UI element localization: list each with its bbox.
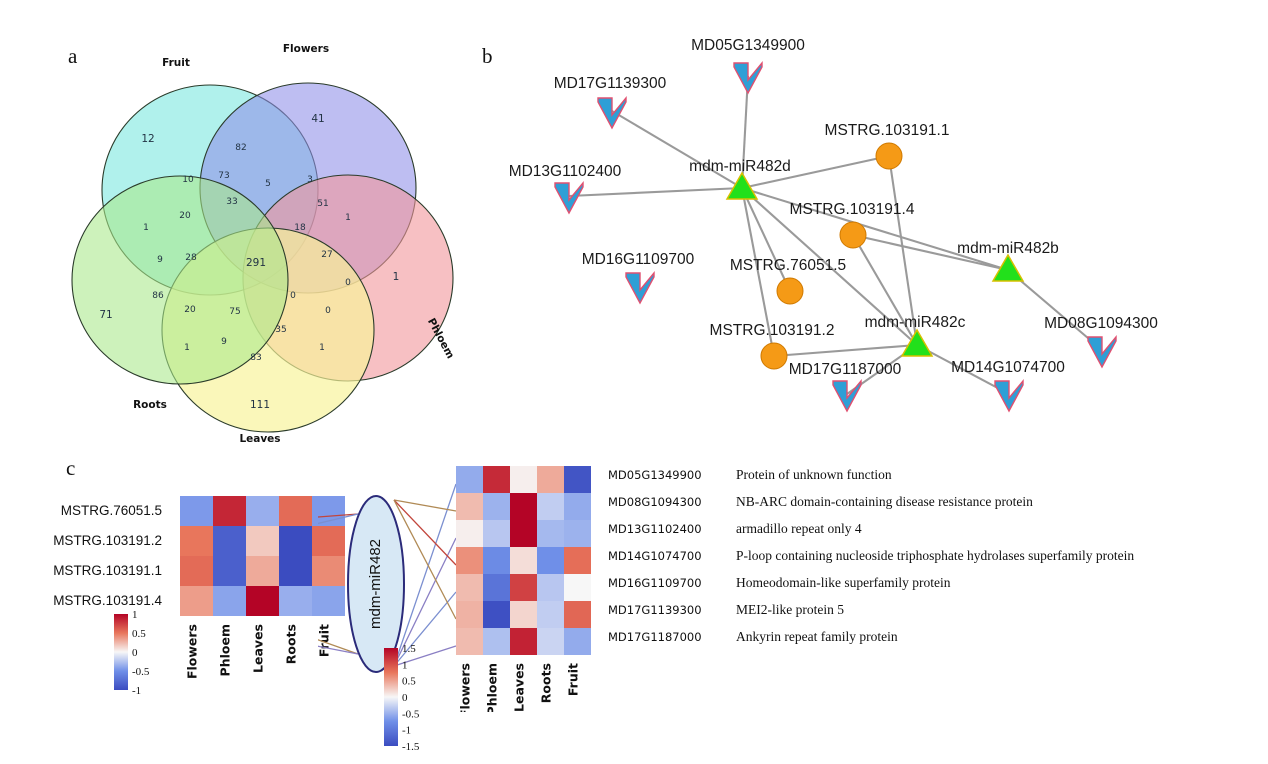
heatmap-right-cell [564,628,591,655]
network-node-MD14G1074700[interactable] [995,381,1023,411]
network-node-MD17G1139300[interactable] [598,98,626,128]
venn-count-86: 86 [152,291,164,301]
venn-label-roots: Roots [133,399,167,411]
heatmap-right-cell [564,466,591,493]
network-node-MD16G1109700[interactable] [626,273,654,303]
venn-count-fruit-only: 12 [141,133,154,145]
network-labels: MD05G1349900MD17G1139300MD13G1102400MD16… [509,37,1159,378]
heatmap-right-cell [564,547,591,574]
venn-count-0c: 0 [345,278,351,288]
gene-annotation-row: MD05G1349900Protein of unknown function [608,467,892,483]
venn-count-18: 18 [294,223,306,233]
network-node-label-MSTRG.103191.1: MSTRG.103191.1 [825,122,950,139]
venn-count-flowers-only: 41 [311,113,324,125]
venn-count-3: 3 [307,175,313,185]
colorbar-left-gradient [114,614,128,690]
heatmap-left-cell [279,586,312,616]
gene-id: MD05G1349900 [608,468,726,482]
heatmap-left-column-label: Roots [284,624,299,664]
gene-id: MD13G1102400 [608,522,726,536]
network-node-label-MD17G1187000: MD17G1187000 [789,361,902,378]
heatmap-right-cell [510,493,537,520]
gene-description: Protein of unknown function [736,467,892,483]
colorbar-left-tick: 0.5 [132,628,146,640]
network-node-MD17G1187000[interactable] [833,381,861,411]
network-node-MD05G1349900[interactable] [734,63,762,93]
heatmap-right-cell [456,547,483,574]
heatmap-right-cell [510,574,537,601]
gene-annotation-row: MD17G1139300MEI2-like protein 5 [608,602,844,618]
network-edge [569,188,742,196]
venn-count-9b: 9 [221,337,227,347]
heatmap-right-cell [456,601,483,628]
heatmap-left-cell [246,586,279,616]
network-node-label-mdm-miR482b: mdm-miR482b [957,240,1059,257]
gene-description: MEI2-like protein 5 [736,602,844,618]
network-node-MSTRG.103191.2[interactable] [761,343,787,369]
heatmap-right-cell [456,520,483,547]
heatmap-right-cell [483,601,510,628]
colorbar-right-gradient [384,648,398,746]
gene-description: armadillo repeat only 4 [736,521,862,537]
colorbar-right-tick: -1.5 [402,741,420,753]
heatmap-left-cell [180,496,213,526]
heatmap-right-cell [537,601,564,628]
venn-count-leaves-only: 111 [250,399,270,411]
heatmap-left-cell [213,496,246,526]
heatmap-right-cell [483,493,510,520]
heatmap-right-column-label: Fruit [566,663,581,696]
network-node-label-MD08G1094300: MD08G1094300 [1044,315,1158,332]
gene-id: MD08G1094300 [608,495,726,509]
heatmap-right-cell [537,574,564,601]
heatmap-right-cell [456,466,483,493]
venn-count-1d: 1 [319,343,325,353]
heatmap-right-cell [510,520,537,547]
heatmap-left-column-labels: FlowersPhloemLeavesRootsFruit [185,624,332,679]
venn-count-phloem-only: 1 [393,271,400,283]
heatmap-left-row-label: MSTRG.103191.1 [0,563,162,578]
heatmap-right-cell [564,520,591,547]
hub-link-left [318,514,358,528]
venn-label-leaves: Leaves [239,433,280,445]
network-node-label-mdm-miR482c: mdm-miR482c [865,314,966,331]
network-node-label-MSTRG.103191.4: MSTRG.103191.4 [790,201,915,218]
gene-description: Homeodomain-like superfamily protein [736,575,950,591]
colorbar-left-ticks: 10.50-0.5-1 [132,610,150,697]
heatmap-left-cell [213,586,246,616]
venn-count-51: 51 [317,199,328,209]
venn-count-20: 20 [179,211,191,221]
venn-count-35: 35 [275,325,286,335]
network-edge [612,111,742,188]
colorbar-right-ticks: 1.510.50-0.5-1-1.5 [402,644,420,753]
venn-count-28: 28 [185,253,197,263]
venn-count-75: 75 [229,307,240,317]
network-node-label-MSTRG.76051.5: MSTRG.76051.5 [730,257,846,274]
colorbar-right-tick: 1.5 [402,644,416,655]
gene-description: Ankyrin repeat family protein [736,629,898,645]
heatmap-left-row-label: MSTRG.103191.2 [0,533,162,548]
mirna-target-network: MD05G1349900MD17G1139300MD13G1102400MD16… [462,28,1262,448]
heatmap-right-cell [456,574,483,601]
heatmap-right-cell [483,574,510,601]
venn-count-0a: 0 [290,291,296,301]
venn-count-20b: 20 [184,305,196,315]
venn-count-27: 27 [321,250,332,260]
heatmap-right-cell [510,628,537,655]
network-node-label-mdm-miR482d: mdm-miR482d [689,158,791,175]
heatmap-right-column-labels: FlowersPhloemLeavesRootsFruit [458,663,581,712]
gene-id: MD17G1139300 [608,603,726,617]
venn-label-fruit: Fruit [162,57,190,69]
heatmap-right-cell [483,547,510,574]
heatmap-left-cell [180,526,213,556]
heatmap-left-column-label: Leaves [251,624,266,673]
venn-label-flowers: Flowers [283,43,329,55]
gene-annotation-row: MD13G1102400armadillo repeat only 4 [608,521,862,537]
network-node-label-MD05G1349900: MD05G1349900 [691,37,805,54]
heatmap-left-cell [246,496,279,526]
heatmap-left-cell [246,556,279,586]
heatmap-right-cell [564,493,591,520]
heatmap-right: FlowersPhloemLeavesRootsFruit [452,462,612,712]
colorbar-left: 10.50-0.5-1 [108,610,198,700]
hub-label: mdm-miR482 [367,539,384,629]
colorbar-right-tick: 0.5 [402,676,416,688]
heatmap-left-cell [279,496,312,526]
heatmap-right-cells [456,466,591,655]
heatmap-right-cell [483,628,510,655]
colorbar-left-tick: 1 [132,610,138,621]
heatmap-left-cell [180,556,213,586]
heatmap-right-cell [537,520,564,547]
heatmap-right-cell [510,466,537,493]
gene-annotation-row: MD08G1094300NB-ARC domain-containing dis… [608,494,1033,510]
network-edge [742,188,790,291]
venn-count-33: 33 [226,197,237,207]
network-node-label-MD13G1102400: MD13G1102400 [509,163,622,180]
heatmap-right-cell [564,601,591,628]
gene-id: MD16G1109700 [608,576,726,590]
colorbar-left-tick: 0 [132,647,138,659]
network-node-label-MD17G1139300: MD17G1139300 [554,75,667,92]
heatmap-left-column-label: Phloem [218,624,233,676]
heatmap-left-cell [213,556,246,586]
venn-count-10: 10 [182,175,194,185]
network-node-mdm-miR482c[interactable] [902,330,932,356]
heatmap-right-cell [510,547,537,574]
colorbar-right-tick: 1 [402,659,408,671]
panel-c: MSTRG.76051.5MSTRG.103191.2MSTRG.103191.… [0,452,1268,764]
network-node-MD13G1102400[interactable] [555,183,583,213]
heatmap-left-cell [213,526,246,556]
network-svg: MD05G1349900MD17G1139300MD13G1102400MD16… [462,28,1262,448]
heatmap-right-column-label: Leaves [512,663,527,712]
network-node-MSTRG.103191.1[interactable] [876,143,902,169]
heatmap-left-cell [279,556,312,586]
venn-count-291: 291 [246,257,266,269]
gene-annotation-row: MD17G1187000Ankyrin repeat family protei… [608,629,898,645]
venn-count-1b: 1 [345,213,351,223]
heatmap-left-cell [279,526,312,556]
colorbar-right-tick: -1 [402,725,411,737]
heatmap-right-cell [537,493,564,520]
gene-id: MD17G1187000 [608,630,726,644]
gene-description: P-loop containing nucleoside triphosphat… [736,548,1134,564]
venn-count-1a: 1 [143,223,149,233]
colorbar-right: 1.510.50-0.5-1-1.5 [378,644,473,759]
heatmap-right-column-label: Roots [539,663,554,703]
heatmap-left-row-label: MSTRG.103191.4 [0,593,162,608]
network-edge [774,345,917,356]
network-node-label-MSTRG.103191.2: MSTRG.103191.2 [710,322,835,339]
venn-count-73: 73 [218,171,229,181]
colorbar-left-tick: -0.5 [132,666,150,678]
heatmap-right-cell [456,493,483,520]
gene-description: NB-ARC domain-containing disease resista… [736,494,1033,510]
gene-id: MD14G1074700 [608,549,726,563]
heatmap-right-cell [564,574,591,601]
heatmap-right-cell [537,628,564,655]
venn-count-0b: 0 [325,306,331,316]
heatmap-right-cell [510,601,537,628]
venn-count-1c: 1 [184,343,190,353]
gene-annotation-row: MD14G1074700P-loop containing nucleoside… [608,548,1134,564]
heatmap-right-cell [537,466,564,493]
network-node-MSTRG.103191.4[interactable] [840,222,866,248]
venn-count-9a: 9 [157,255,163,265]
network-node-MD08G1094300[interactable] [1088,337,1116,367]
venn-count-83: 83 [250,353,261,363]
colorbar-right-tick: 0 [402,692,408,704]
network-node-label-MD14G1074700: MD14G1074700 [951,359,1065,376]
heatmap-left-row-label: MSTRG.76051.5 [0,503,162,518]
heatmap-right-column-label: Phloem [485,663,500,712]
venn-diagram: Fruit Flowers Phloem Leaves Roots 12 41 … [60,30,460,450]
heatmap-right-cell [483,466,510,493]
heatmap-right-cell [537,547,564,574]
heatmap-right-cell [483,520,510,547]
heatmap-left-cell [246,526,279,556]
network-node-MSTRG.76051.5[interactable] [777,278,803,304]
gene-annotation-row: MD16G1109700Homeodomain-like superfamily… [608,575,950,591]
network-node-label-MD16G1109700: MD16G1109700 [582,251,695,268]
colorbar-right-tick: -0.5 [402,708,420,720]
venn-count-5: 5 [265,179,271,189]
venn-count-roots-only: 71 [99,309,112,321]
colorbar-left-tick: -1 [132,685,141,697]
venn-svg: Fruit Flowers Phloem Leaves Roots 12 41 … [60,30,460,450]
venn-count-82: 82 [235,143,246,153]
